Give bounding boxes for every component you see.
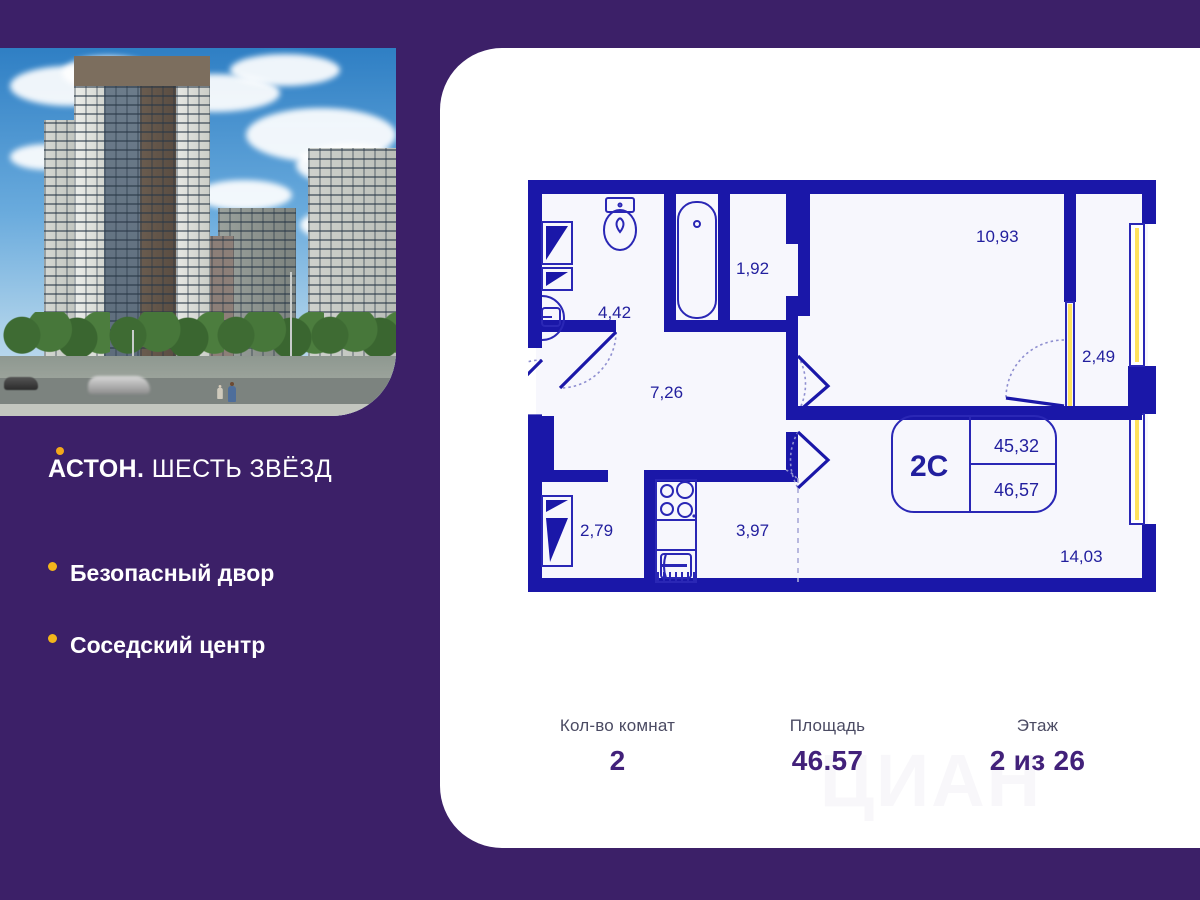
- stat-rooms-value: 2: [510, 745, 725, 777]
- brand-dot-icon: [56, 447, 64, 455]
- building-crown-icon: [74, 56, 210, 86]
- person-icon: [217, 385, 223, 399]
- plan-badge-area-total: 46,57: [994, 480, 1039, 500]
- stat-rooms-label: Кол-во комнат: [510, 716, 725, 736]
- yellow-dot-icon: [48, 634, 57, 643]
- feature-item-safe-yard: Безопасный двор: [70, 560, 274, 587]
- feature-label: Соседский центр: [70, 632, 265, 658]
- apartment-stats: Кол-во комнат 2 Площадь 46.57 Этаж 2 из …: [510, 716, 1150, 777]
- yellow-dot-icon: [48, 562, 57, 571]
- floor-plan-svg: .w { fill:#1a17a8; } .rm { fill:#f7f7fd;…: [528, 180, 1156, 592]
- plan-badge-type: 2С: [910, 450, 948, 483]
- room-area-storage: 2,79: [580, 521, 613, 540]
- stat-area-label: Площадь: [725, 716, 930, 736]
- stat-floor-label: Этаж: [930, 716, 1145, 736]
- sidewalk: [0, 404, 396, 416]
- stat-rooms: Кол-во комнат 2: [510, 716, 725, 777]
- room-area-loggia: 2,49: [1082, 347, 1115, 366]
- room-area-hall: 7,26: [650, 383, 683, 402]
- brand-name: АСТОН: [48, 455, 137, 483]
- room-area-bedroom: 10,93: [976, 227, 1019, 246]
- stat-floor-value: 2 из 26: [930, 745, 1145, 777]
- left-promo-panel: АСТОН. ШЕСТЬ ЗВЁЗД Безопасный двор Сосед…: [0, 0, 440, 900]
- brand-title: АСТОН. ШЕСТЬ ЗВЁЗД: [48, 455, 332, 484]
- room-area-bathroom: 4,42: [598, 303, 631, 322]
- floor-plan: .w { fill:#1a17a8; } .rm { fill:#f7f7fd;…: [528, 180, 1156, 592]
- hero-render-photo: [0, 48, 396, 416]
- cloud-icon: [196, 180, 292, 210]
- room-area-wc: 1,92: [736, 259, 769, 278]
- ground-plane: [0, 356, 396, 416]
- room-area-kitchen: 3,97: [736, 521, 769, 540]
- car-icon: [88, 376, 150, 394]
- stat-area-value: 46.57: [725, 745, 930, 777]
- apartment-card: .w { fill:#1a17a8; } .rm { fill:#f7f7fd;…: [440, 48, 1200, 848]
- plan-badge-area-living: 45,32: [994, 436, 1039, 456]
- room-area-living: 14,03: [1060, 547, 1103, 566]
- cloud-icon: [230, 54, 340, 86]
- feature-item-neighbour-center: Соседский центр: [70, 632, 265, 659]
- stat-area: Площадь 46.57: [725, 716, 930, 777]
- person-icon: [228, 382, 236, 402]
- stat-floor: Этаж 2 из 26: [930, 716, 1145, 777]
- feature-label: Безопасный двор: [70, 560, 274, 586]
- brand-subtitle: ШЕСТЬ ЗВЁЗД: [144, 455, 332, 483]
- car-icon: [4, 377, 38, 390]
